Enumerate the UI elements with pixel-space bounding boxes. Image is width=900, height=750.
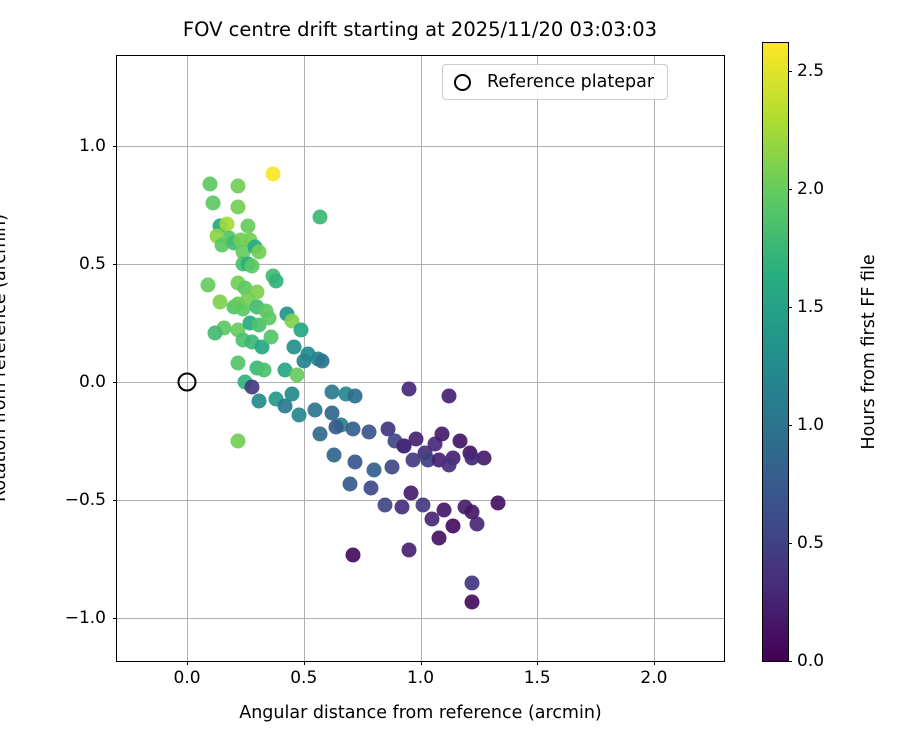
scatter-point[interactable]	[252, 245, 267, 260]
scatter-point[interactable]	[490, 495, 505, 510]
x-tick-label: 0.0	[174, 668, 201, 688]
x-tick-mark	[304, 661, 305, 665]
scatter-point[interactable]	[366, 462, 381, 477]
y-tick-label: 0.5	[79, 254, 106, 274]
colorbar-tick-label: 2.0	[797, 179, 824, 199]
x-tick-label: 1.5	[524, 668, 551, 688]
reference-platepar-point[interactable]	[178, 373, 197, 392]
gridline-horizontal	[117, 264, 724, 265]
scatter-point[interactable]	[257, 363, 272, 378]
scatter-point[interactable]	[315, 353, 330, 368]
scatter-point[interactable]	[245, 379, 260, 394]
scatter-point[interactable]	[441, 389, 456, 404]
colorbar-tick-label: 2.5	[797, 61, 824, 81]
scatter-point[interactable]	[212, 294, 227, 309]
colorbar-tick-label: 1.5	[797, 297, 824, 317]
colorbar-label: Hours from first FF file	[859, 254, 879, 449]
y-tick-mark	[113, 146, 117, 147]
scatter-point[interactable]	[313, 427, 328, 442]
chart-title: FOV centre drift starting at 2025/11/20 …	[0, 18, 840, 41]
scatter-point[interactable]	[292, 408, 307, 423]
figure-canvas: FOV centre drift starting at 2025/11/20 …	[0, 0, 900, 750]
scatter-point[interactable]	[415, 498, 430, 513]
scatter-point[interactable]	[378, 498, 393, 513]
legend-box[interactable]: Reference platepar	[442, 64, 668, 100]
scatter-point[interactable]	[464, 594, 479, 609]
scatter-point[interactable]	[464, 450, 479, 465]
scatter-point[interactable]	[432, 531, 447, 546]
colorbar-tick-mark	[788, 71, 792, 72]
scatter-point[interactable]	[394, 500, 409, 515]
scatter-point[interactable]	[313, 209, 328, 224]
colorbar[interactable]: 0.00.51.01.52.02.5	[762, 42, 789, 662]
scatter-point[interactable]	[203, 176, 218, 191]
scatter-point[interactable]	[231, 434, 246, 449]
colorbar-gradient	[763, 43, 788, 661]
scatter-point[interactable]	[245, 259, 260, 274]
scatter-point[interactable]	[385, 460, 400, 475]
scatter-point[interactable]	[436, 502, 451, 517]
scatter-point[interactable]	[401, 382, 416, 397]
scatter-point[interactable]	[296, 353, 311, 368]
y-tick-label: −0.5	[65, 490, 106, 510]
plot-axes[interactable]: 0.00.51.01.52.0−1.0−0.50.00.51.0	[116, 55, 725, 662]
scatter-point[interactable]	[294, 323, 309, 338]
scatter-point[interactable]	[406, 453, 421, 468]
x-tick-label: 0.5	[290, 668, 317, 688]
x-axis-label: Angular distance from reference (arcmin)	[116, 703, 725, 723]
colorbar-tick-label: 1.0	[797, 415, 824, 435]
scatter-point[interactable]	[345, 547, 360, 562]
y-tick-mark	[113, 382, 117, 383]
colorbar-tick-mark	[788, 189, 792, 190]
scatter-point[interactable]	[261, 311, 276, 326]
scatter-point[interactable]	[278, 398, 293, 413]
colorbar-tick-mark	[788, 425, 792, 426]
y-tick-label: 0.0	[79, 372, 106, 392]
colorbar-tick-mark	[788, 661, 792, 662]
scatter-point[interactable]	[266, 167, 281, 182]
scatter-point[interactable]	[324, 384, 339, 399]
scatter-point[interactable]	[397, 438, 412, 453]
reference-platepar-marker-icon	[454, 74, 471, 91]
scatter-point[interactable]	[345, 422, 360, 437]
scatter-point[interactable]	[268, 273, 283, 288]
gridline-horizontal	[117, 382, 724, 383]
scatter-point[interactable]	[401, 542, 416, 557]
scatter-point[interactable]	[231, 178, 246, 193]
y-axis-label: Rotation from reference (arcmin)	[0, 214, 10, 502]
scatter-point[interactable]	[264, 330, 279, 345]
x-tick-mark	[654, 661, 655, 665]
y-tick-mark	[113, 500, 117, 501]
scatter-point[interactable]	[231, 200, 246, 215]
scatter-point[interactable]	[308, 403, 323, 418]
x-tick-mark	[187, 661, 188, 665]
scatter-point[interactable]	[348, 389, 363, 404]
scatter-point[interactable]	[464, 576, 479, 591]
y-tick-mark	[113, 264, 117, 265]
x-tick-mark	[537, 661, 538, 665]
x-tick-label: 2.0	[640, 668, 667, 688]
scatter-point[interactable]	[441, 457, 456, 472]
scatter-point[interactable]	[464, 505, 479, 520]
scatter-point[interactable]	[348, 455, 363, 470]
scatter-point[interactable]	[205, 195, 220, 210]
gridline-horizontal	[117, 146, 724, 147]
colorbar-tick-label: 0.5	[797, 533, 824, 553]
scatter-point[interactable]	[434, 427, 449, 442]
y-tick-label: −1.0	[65, 608, 106, 628]
scatter-point[interactable]	[404, 486, 419, 501]
scatter-point[interactable]	[240, 219, 255, 234]
gridline-horizontal	[117, 618, 724, 619]
legend-entry-label: Reference platepar	[487, 72, 654, 92]
scatter-point[interactable]	[329, 420, 344, 435]
scatter-point[interactable]	[208, 325, 223, 340]
colorbar-tick-mark	[788, 307, 792, 308]
scatter-point[interactable]	[446, 519, 461, 534]
y-tick-mark	[113, 618, 117, 619]
scatter-point[interactable]	[287, 339, 302, 354]
scatter-point[interactable]	[252, 394, 267, 409]
x-tick-label: 1.0	[407, 668, 434, 688]
scatter-point[interactable]	[289, 368, 304, 383]
scatter-point[interactable]	[231, 356, 246, 371]
x-tick-mark	[421, 661, 422, 665]
scatter-point[interactable]	[201, 278, 216, 293]
scatter-point[interactable]	[453, 434, 468, 449]
colorbar-tick-label: 0.0	[797, 651, 824, 671]
y-tick-label: 1.0	[79, 136, 106, 156]
scatter-point[interactable]	[343, 476, 358, 491]
scatter-point[interactable]	[364, 481, 379, 496]
scatter-point[interactable]	[327, 448, 342, 463]
colorbar-tick-mark	[788, 543, 792, 544]
scatter-point[interactable]	[362, 424, 377, 439]
